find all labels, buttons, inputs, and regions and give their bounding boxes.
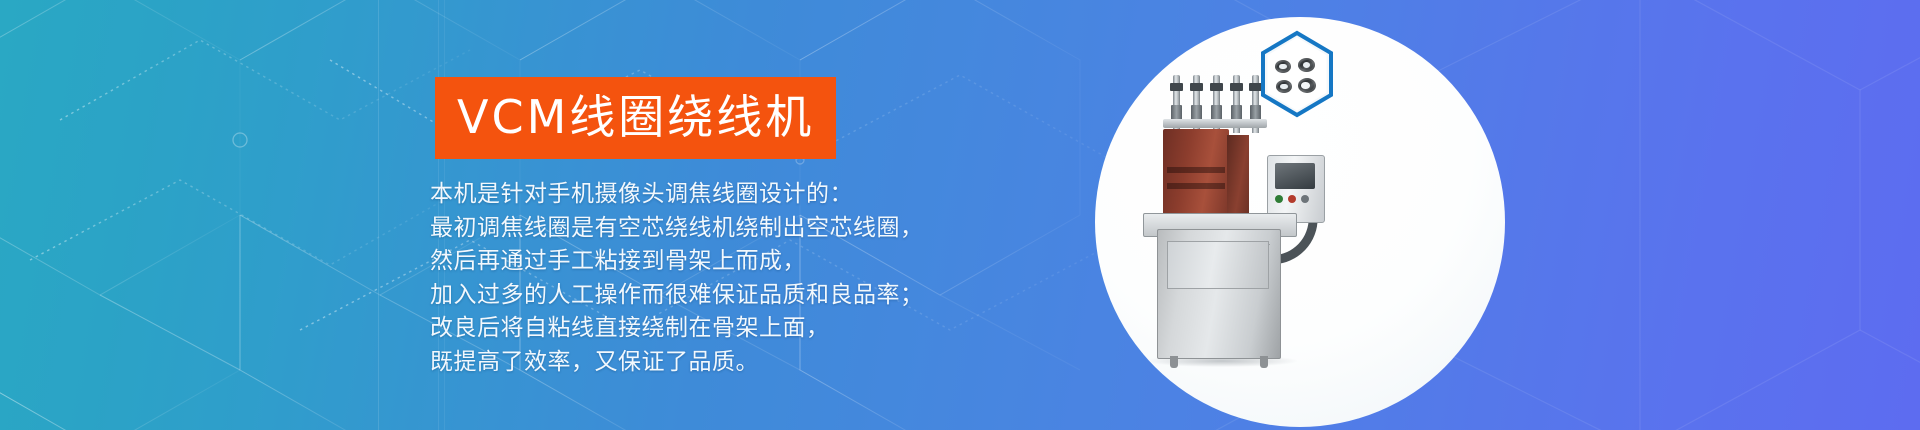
banner-description: 本机是针对手机摄像头调焦线圈设计的： 最初调焦线圈是有空芯绕线机绕制出空芯线圈，… [430,178,924,379]
coil-icon [1298,58,1315,72]
machine-winding-head [1163,129,1229,221]
control-panel-buttons [1275,195,1315,213]
product-hero-banner: VCM线圈绕线机 本机是针对手机摄像头调焦线圈设计的： 最初调焦线圈是有空芯绕线… [0,0,1920,430]
banner-title-box: VCM线圈绕线机 [435,77,836,159]
coil-product-badge [1258,30,1336,118]
geometric-background-decoration [0,0,1920,430]
control-panel-screen [1275,163,1315,189]
coil-thumbnails [1258,30,1336,118]
coil-icon [1298,78,1316,93]
description-line: 本机是针对手机摄像头调焦线圈设计的： [430,178,924,212]
decorative-vline-1 [378,0,379,430]
coil-icon [1275,60,1291,73]
description-line: 加入过多的人工操作而很难保证品质和良品率； [430,279,924,313]
machine-head-slot [1167,167,1225,173]
machine-head-slot [1167,183,1225,189]
coil-icon [1276,80,1292,93]
description-line: 既提高了效率，又保证了品质。 [430,346,924,380]
description-line: 最初调焦线圈是有空芯绕线机绕制出空芯线圈， [430,212,924,246]
machine-rail [1163,119,1267,128]
description-line: 然后再通过手工粘接到骨架上而成， [430,245,924,279]
machine-cabinet-panel [1167,241,1269,289]
description-line: 改良后将自粘线直接绕制在骨架上面， [430,312,924,346]
page-title: VCM线圈绕线机 [457,94,814,140]
